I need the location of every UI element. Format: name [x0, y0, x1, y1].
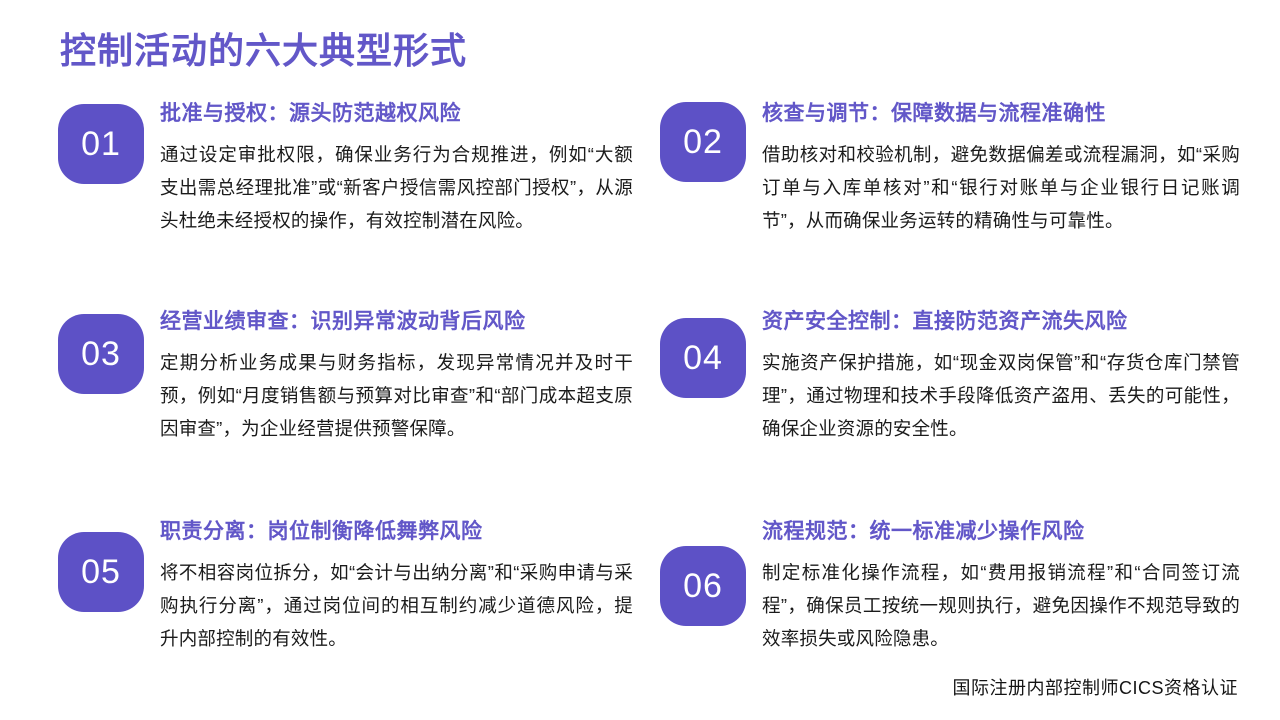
- item-card-01: 01 批准与授权：源头防范越权风险 通过设定审批权限，确保业务行为合规推进，例如…: [58, 96, 633, 237]
- footer-certification-label: 国际注册内部控制师CICS资格认证: [952, 674, 1238, 700]
- item-card-06: 06 流程规范：统一标准减少操作风险 制定标准化操作流程，如“费用报销流程”和“…: [660, 514, 1240, 655]
- item-description-06: 制定标准化操作流程，如“费用报销流程”和“合同签订流程”，确保员工按统一规则执行…: [762, 556, 1240, 655]
- item-body-05: 职责分离：岗位制衡降低舞弊风险 将不相容岗位拆分，如“会计与出纳分离”和“采购申…: [144, 514, 633, 655]
- item-description-03: 定期分析业务成果与财务指标，发现异常情况并及时干预，例如“月度销售额与预算对比审…: [160, 346, 633, 445]
- item-description-02: 借助核对和校验机制，避免数据偏差或流程漏洞，如“采购订单与入库单核对”和“银行对…: [762, 138, 1240, 237]
- item-body-03: 经营业绩审查：识别异常波动背后风险 定期分析业务成果与财务指标，发现异常情况并及…: [144, 304, 633, 445]
- item-number-badge-02: 02: [660, 102, 746, 182]
- item-body-01: 批准与授权：源头防范越权风险 通过设定审批权限，确保业务行为合规推进，例如“大额…: [144, 96, 633, 237]
- item-body-02: 核查与调节：保障数据与流程准确性 借助核对和校验机制，避免数据偏差或流程漏洞，如…: [746, 96, 1240, 237]
- item-body-06: 流程规范：统一标准减少操作风险 制定标准化操作流程，如“费用报销流程”和“合同签…: [746, 514, 1240, 655]
- item-number-badge-03: 03: [58, 314, 144, 394]
- item-number-badge-05: 05: [58, 532, 144, 612]
- item-card-02: 02 核查与调节：保障数据与流程准确性 借助核对和校验机制，避免数据偏差或流程漏…: [660, 96, 1240, 237]
- item-heading-05: 职责分离：岗位制衡降低舞弊风险: [160, 518, 633, 546]
- items-grid: 01 批准与授权：源头防范越权风险 通过设定审批权限，确保业务行为合规推进，例如…: [0, 96, 1280, 656]
- item-description-04: 实施资产保护措施，如“现金双岗保管”和“存货仓库门禁管理”，通过物理和技术手段降…: [762, 346, 1240, 445]
- item-heading-02: 核查与调节：保障数据与流程准确性: [762, 100, 1240, 128]
- item-heading-03: 经营业绩审查：识别异常波动背后风险: [160, 308, 633, 336]
- item-heading-01: 批准与授权：源头防范越权风险: [160, 100, 633, 128]
- item-card-04: 04 资产安全控制：直接防范资产流失风险 实施资产保护措施，如“现金双岗保管”和…: [660, 304, 1240, 445]
- item-description-05: 将不相容岗位拆分，如“会计与出纳分离”和“采购申请与采购执行分离”，通过岗位间的…: [160, 556, 633, 655]
- item-body-04: 资产安全控制：直接防范资产流失风险 实施资产保护措施，如“现金双岗保管”和“存货…: [746, 304, 1240, 445]
- item-card-03: 03 经营业绩审查：识别异常波动背后风险 定期分析业务成果与财务指标，发现异常情…: [58, 304, 633, 445]
- page-title: 控制活动的六大典型形式: [60, 28, 467, 74]
- item-description-01: 通过设定审批权限，确保业务行为合规推进，例如“大额支出需总经理批准”或“新客户授…: [160, 138, 633, 237]
- item-card-05: 05 职责分离：岗位制衡降低舞弊风险 将不相容岗位拆分，如“会计与出纳分离”和“…: [58, 514, 633, 655]
- item-heading-04: 资产安全控制：直接防范资产流失风险: [762, 308, 1240, 336]
- item-number-badge-01: 01: [58, 104, 144, 184]
- item-number-badge-06: 06: [660, 546, 746, 626]
- item-heading-06: 流程规范：统一标准减少操作风险: [762, 518, 1240, 546]
- slide-root: 控制活动的六大典型形式 01 批准与授权：源头防范越权风险 通过设定审批权限，确…: [0, 0, 1280, 720]
- item-number-badge-04: 04: [660, 318, 746, 398]
